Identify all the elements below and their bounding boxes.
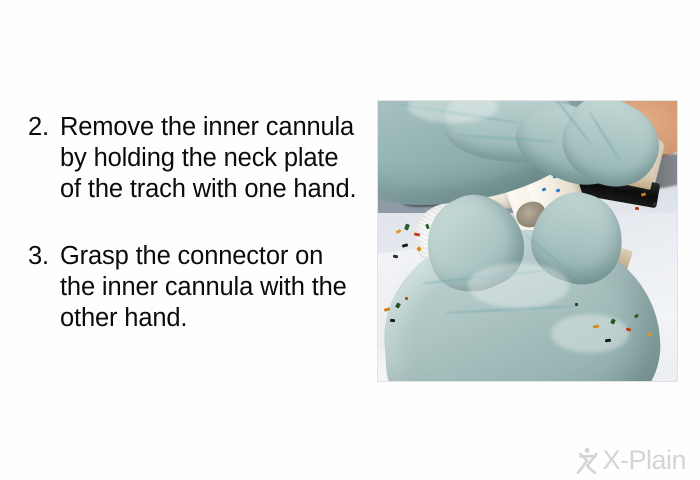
glove-highlight — [551, 314, 629, 353]
slide-canvas: 2. Remove the inner cannula by holding t… — [0, 0, 700, 480]
instruction-list: 2. Remove the inner cannula by holding t… — [28, 112, 364, 334]
linen-fleck — [405, 297, 408, 300]
instructional-photo: NO CUFF — [378, 101, 677, 381]
linen-fleck — [414, 232, 420, 236]
person-figure-x-icon — [575, 446, 601, 474]
photo-content: NO CUFF — [378, 101, 677, 381]
linen-fleck — [575, 303, 578, 306]
brand-logo-text: X-Plain — [602, 447, 686, 474]
glove-highlight — [468, 263, 570, 308]
step-number: 3. — [28, 241, 60, 272]
step-number: 2. — [28, 112, 60, 143]
step-text: Remove the inner cannula by holding the … — [60, 112, 364, 205]
brand-logo: X-Plain — [575, 446, 686, 474]
linen-fleck — [393, 255, 398, 259]
list-item: 3. Grasp the connector on the inner cann… — [28, 241, 364, 334]
list-item: 2. Remove the inner cannula by holding t… — [28, 112, 364, 205]
linen-fleck — [626, 327, 632, 331]
step-text: Grasp the connector on the inner cannula… — [60, 241, 364, 334]
